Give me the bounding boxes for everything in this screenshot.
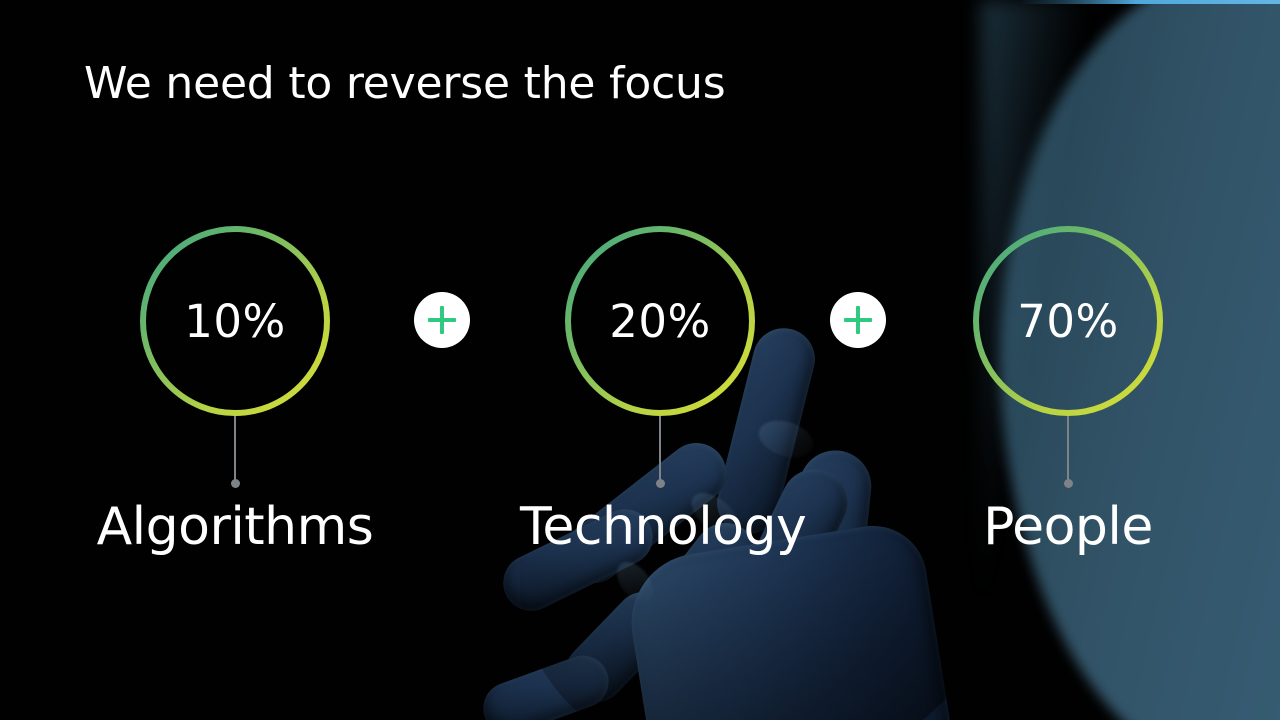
slide-canvas: We need to reverse the focus 1 bbox=[0, 0, 1280, 720]
connector-line-people bbox=[1067, 416, 1069, 484]
stat-percent-technology: 20% bbox=[565, 226, 755, 416]
donut-ring-algorithms: 10% bbox=[140, 226, 330, 416]
stats-group: 10% Algorithms bbox=[0, 0, 1280, 720]
plus-icon-vertical-bar bbox=[440, 306, 444, 334]
stat-technology: 20% Technology bbox=[520, 226, 800, 555]
stat-percent-algorithms: 10% bbox=[140, 226, 330, 416]
stat-people: 70% People bbox=[928, 226, 1208, 555]
connector-dot bbox=[1064, 479, 1073, 488]
stat-percent-people: 70% bbox=[973, 226, 1163, 416]
connector-dot bbox=[231, 479, 240, 488]
stat-label-people: People bbox=[928, 500, 1208, 555]
plus-icon-vertical-bar bbox=[856, 306, 860, 334]
connector-line-technology bbox=[659, 416, 661, 484]
connector-line-algorithms bbox=[234, 416, 236, 484]
stat-algorithms: 10% Algorithms bbox=[95, 226, 375, 555]
connector-dot bbox=[656, 479, 665, 488]
stat-label-technology: Technology bbox=[520, 500, 800, 555]
plus-icon-1 bbox=[414, 292, 470, 348]
stat-label-algorithms: Algorithms bbox=[95, 500, 375, 555]
donut-ring-technology: 20% bbox=[565, 226, 755, 416]
plus-icon-2 bbox=[830, 292, 886, 348]
donut-ring-people: 70% bbox=[973, 226, 1163, 416]
